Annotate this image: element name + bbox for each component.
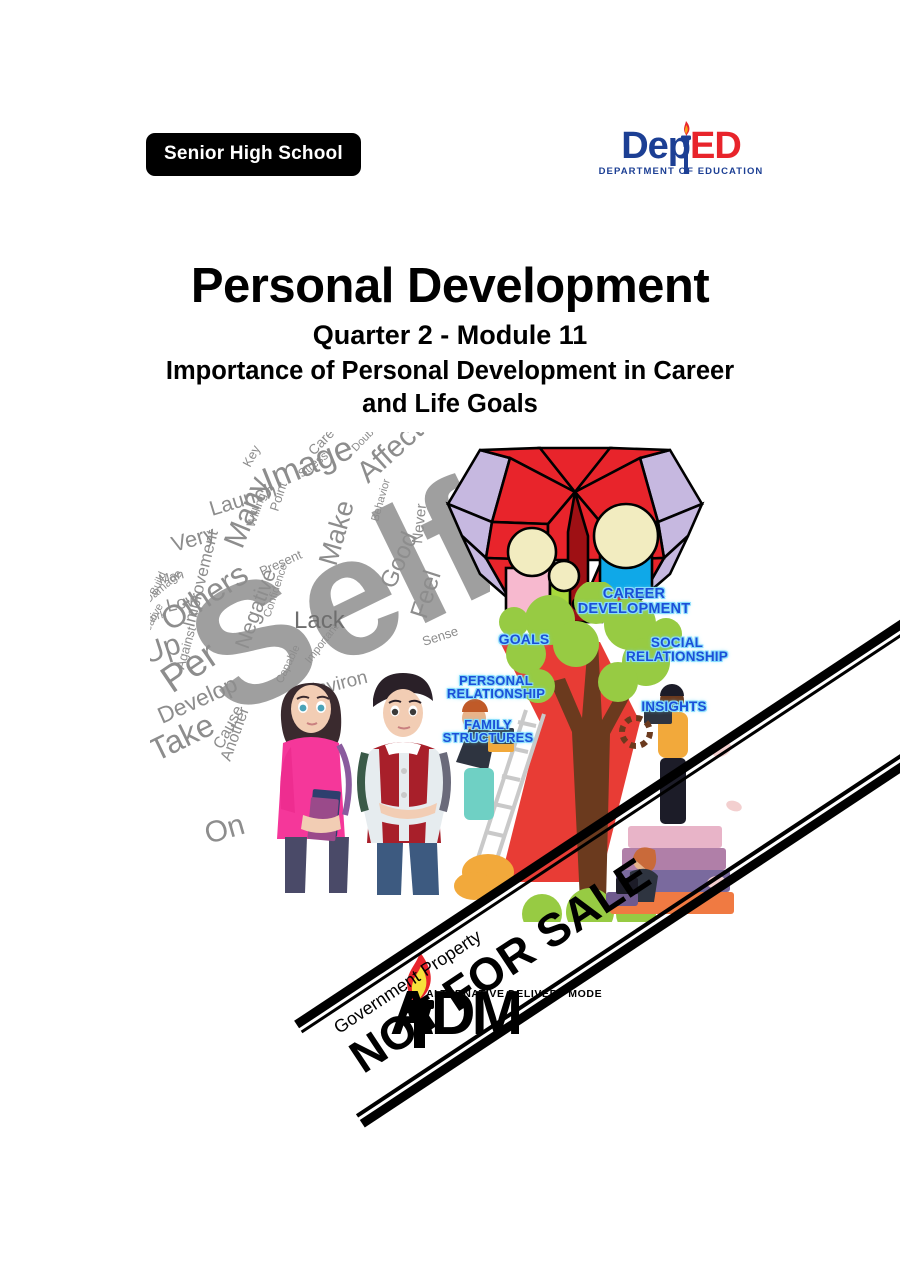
label-personal-relationship: PERSONAL RELATIONSHIP [442, 674, 550, 701]
label-family-structures: FAMILY STRUCTURES [438, 718, 538, 745]
quarter-module-label: Quarter 2 - Module 11 [0, 319, 900, 351]
header-row: Senior High School DepED DEPARTMENT OF E… [0, 118, 900, 188]
label-career-development: CAREER DEVELOPMENT [574, 587, 694, 617]
students-illustration [255, 657, 465, 927]
grade-level-badge: Senior High School [146, 133, 361, 176]
label-insights: INSIGHTS [628, 700, 720, 714]
label-social-relationship: SOCIAL RELATIONSHIP [622, 636, 732, 664]
title-block: Personal Development Quarter 2 - Module … [0, 258, 900, 421]
page-title: Personal Development [0, 258, 900, 314]
module-cover-page: Senior High School DepED DEPARTMENT OF E… [0, 0, 900, 1273]
torch-icon [676, 120, 696, 176]
module-topic-title: Importance of Personal Development in Ca… [0, 355, 900, 421]
students-graphic [255, 657, 465, 927]
svg-text:On: On [201, 808, 249, 851]
label-goals: GOALS [488, 632, 560, 646]
deped-ed-text: ED [690, 125, 741, 167]
deped-logo: DepED DEPARTMENT OF EDUCATION [592, 120, 770, 184]
